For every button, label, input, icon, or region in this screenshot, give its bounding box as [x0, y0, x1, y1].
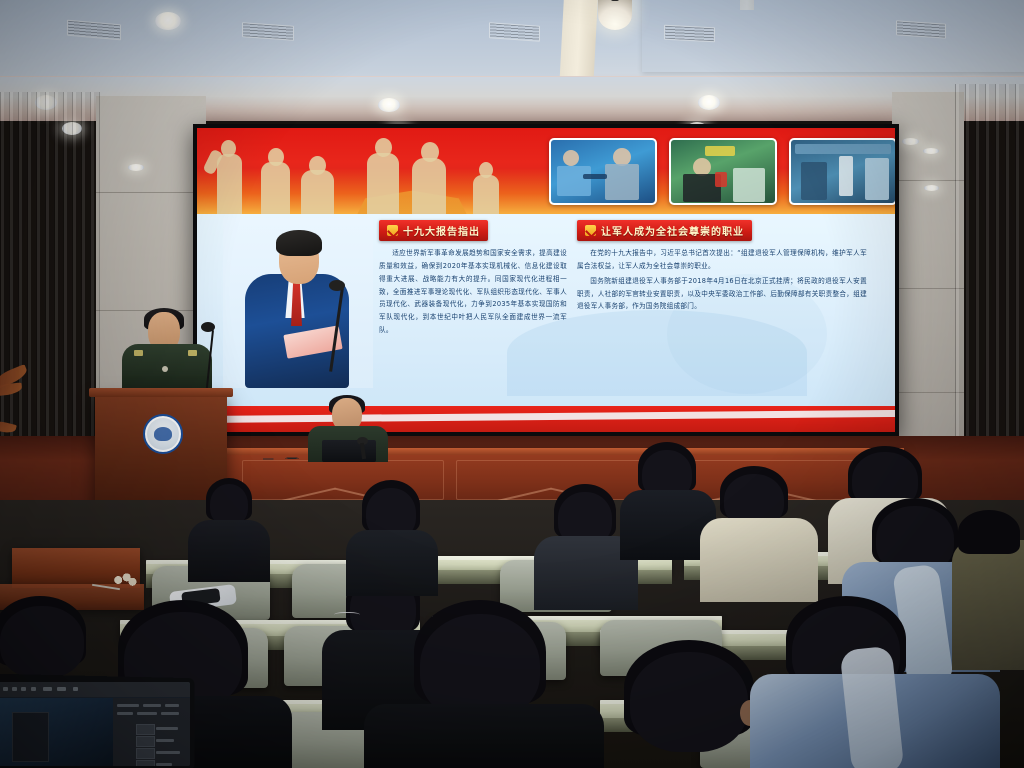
app-layer-list — [12, 712, 49, 762]
header-photo-inset — [669, 138, 777, 205]
pendant-light — [598, 0, 632, 30]
air-vent — [664, 25, 715, 43]
slide-footer-band — [197, 406, 895, 432]
leader-photo — [223, 218, 373, 388]
slide-body: 十九大报告指出 适应世界新军事革命发展趋势和国家安全需求，提高建设质量和效益，确… — [197, 214, 895, 406]
university-crest-icon — [143, 414, 183, 454]
header-photo-inset — [549, 138, 657, 205]
app-side-panel — [113, 698, 190, 766]
list-item — [350, 480, 438, 590]
wall-washer-light — [128, 164, 144, 171]
section-heading-right-label: 让军人成为全社会尊崇的职业 — [601, 223, 744, 238]
app-toolbar — [0, 682, 190, 697]
laptop-screen — [0, 682, 190, 766]
section-heading-left: 十九大报告指出 — [379, 220, 488, 241]
head-table-laptop — [322, 440, 376, 462]
footer-highlight-stripe — [197, 410, 895, 423]
lecture-hall-photo: 十九大报告指出 适应世界新军事革命发展趋势和国家安全需求，提高建设质量和效益，确… — [0, 0, 1024, 768]
party-emblem-icon — [585, 225, 596, 236]
section-heading-right: 让军人成为全社会尊崇的职业 — [577, 220, 752, 241]
slide-column-left: 十九大报告指出 适应世界新军事革命发展趋势和国家安全需求，提高建设质量和效益，确… — [379, 220, 567, 337]
cables-on-table — [246, 455, 320, 463]
party-emblem-icon — [387, 225, 398, 236]
slide-paragraph: 适应世界新军事革命发展趋势和国家安全需求，提高建设质量和效益，确保到2020年基… — [379, 247, 567, 337]
seated-officer — [306, 398, 390, 460]
slide-paragraph: 在党的十九大报告中，习近平总书记首次提出：“组建退役军人管理保障机构，维护军人军… — [577, 247, 867, 273]
wall-washer-light — [902, 138, 919, 145]
ceiling-downlight — [378, 98, 400, 112]
slide-paragraph: 国务院新组建退役军人事务部于2018年4月16日在北京正式挂牌；将民政的退役军人… — [577, 275, 867, 314]
ceiling-downlight — [698, 95, 720, 110]
list-item — [626, 442, 712, 552]
slide-header-banner — [197, 128, 895, 214]
wall-washer-light — [924, 185, 939, 191]
presentation-slide: 十九大报告指出 适应世界新军事革命发展趋势和国家安全需求，提高建设质量和效益，确… — [197, 128, 895, 432]
header-photo-inset — [789, 138, 895, 205]
ceiling-downlight — [155, 12, 181, 30]
led-display-wall: 十九大报告指出 适应世界新军事革命发展趋势和国家安全需求，提高建设质量和效益，确… — [193, 124, 899, 436]
wall-washer-light — [923, 148, 939, 154]
ceiling-beam — [740, 0, 754, 10]
list-item — [708, 466, 816, 594]
section-heading-left-label: 十九大报告指出 — [403, 223, 480, 238]
list-item — [190, 478, 268, 578]
slide-column-right: 让军人成为全社会尊崇的职业 在党的十九大报告中，习近平总书记首次提出：“组建退役… — [577, 220, 867, 313]
list-item — [380, 600, 590, 768]
ceiling-beam — [560, 0, 598, 76]
open-laptop[interactable] — [0, 676, 200, 768]
